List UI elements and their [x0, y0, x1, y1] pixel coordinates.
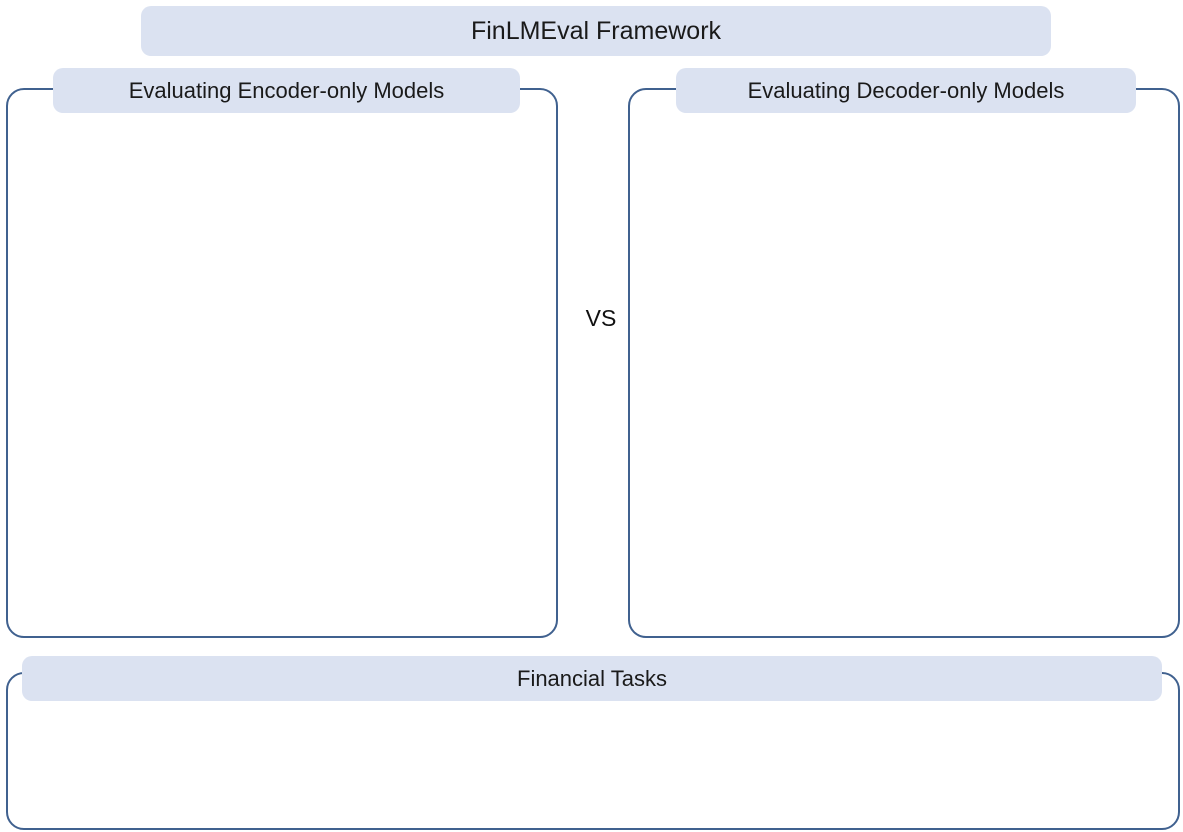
- encoder-title-band: Evaluating Encoder-only Models: [53, 68, 520, 113]
- encoder-title: Evaluating Encoder-only Models: [129, 78, 445, 104]
- decoder-title-band: Evaluating Decoder-only Models: [676, 68, 1136, 113]
- framework-title-band: FinLMEval Framework: [141, 6, 1051, 56]
- financial-tasks-title-band: Financial Tasks: [22, 656, 1162, 701]
- vs-label: VS: [571, 305, 631, 332]
- page-title: FinLMEval Framework: [471, 17, 721, 46]
- financial-tasks-title: Financial Tasks: [517, 666, 667, 692]
- decoder-title: Evaluating Decoder-only Models: [748, 78, 1065, 104]
- decoder-panel: [628, 88, 1180, 638]
- encoder-panel: [6, 88, 558, 638]
